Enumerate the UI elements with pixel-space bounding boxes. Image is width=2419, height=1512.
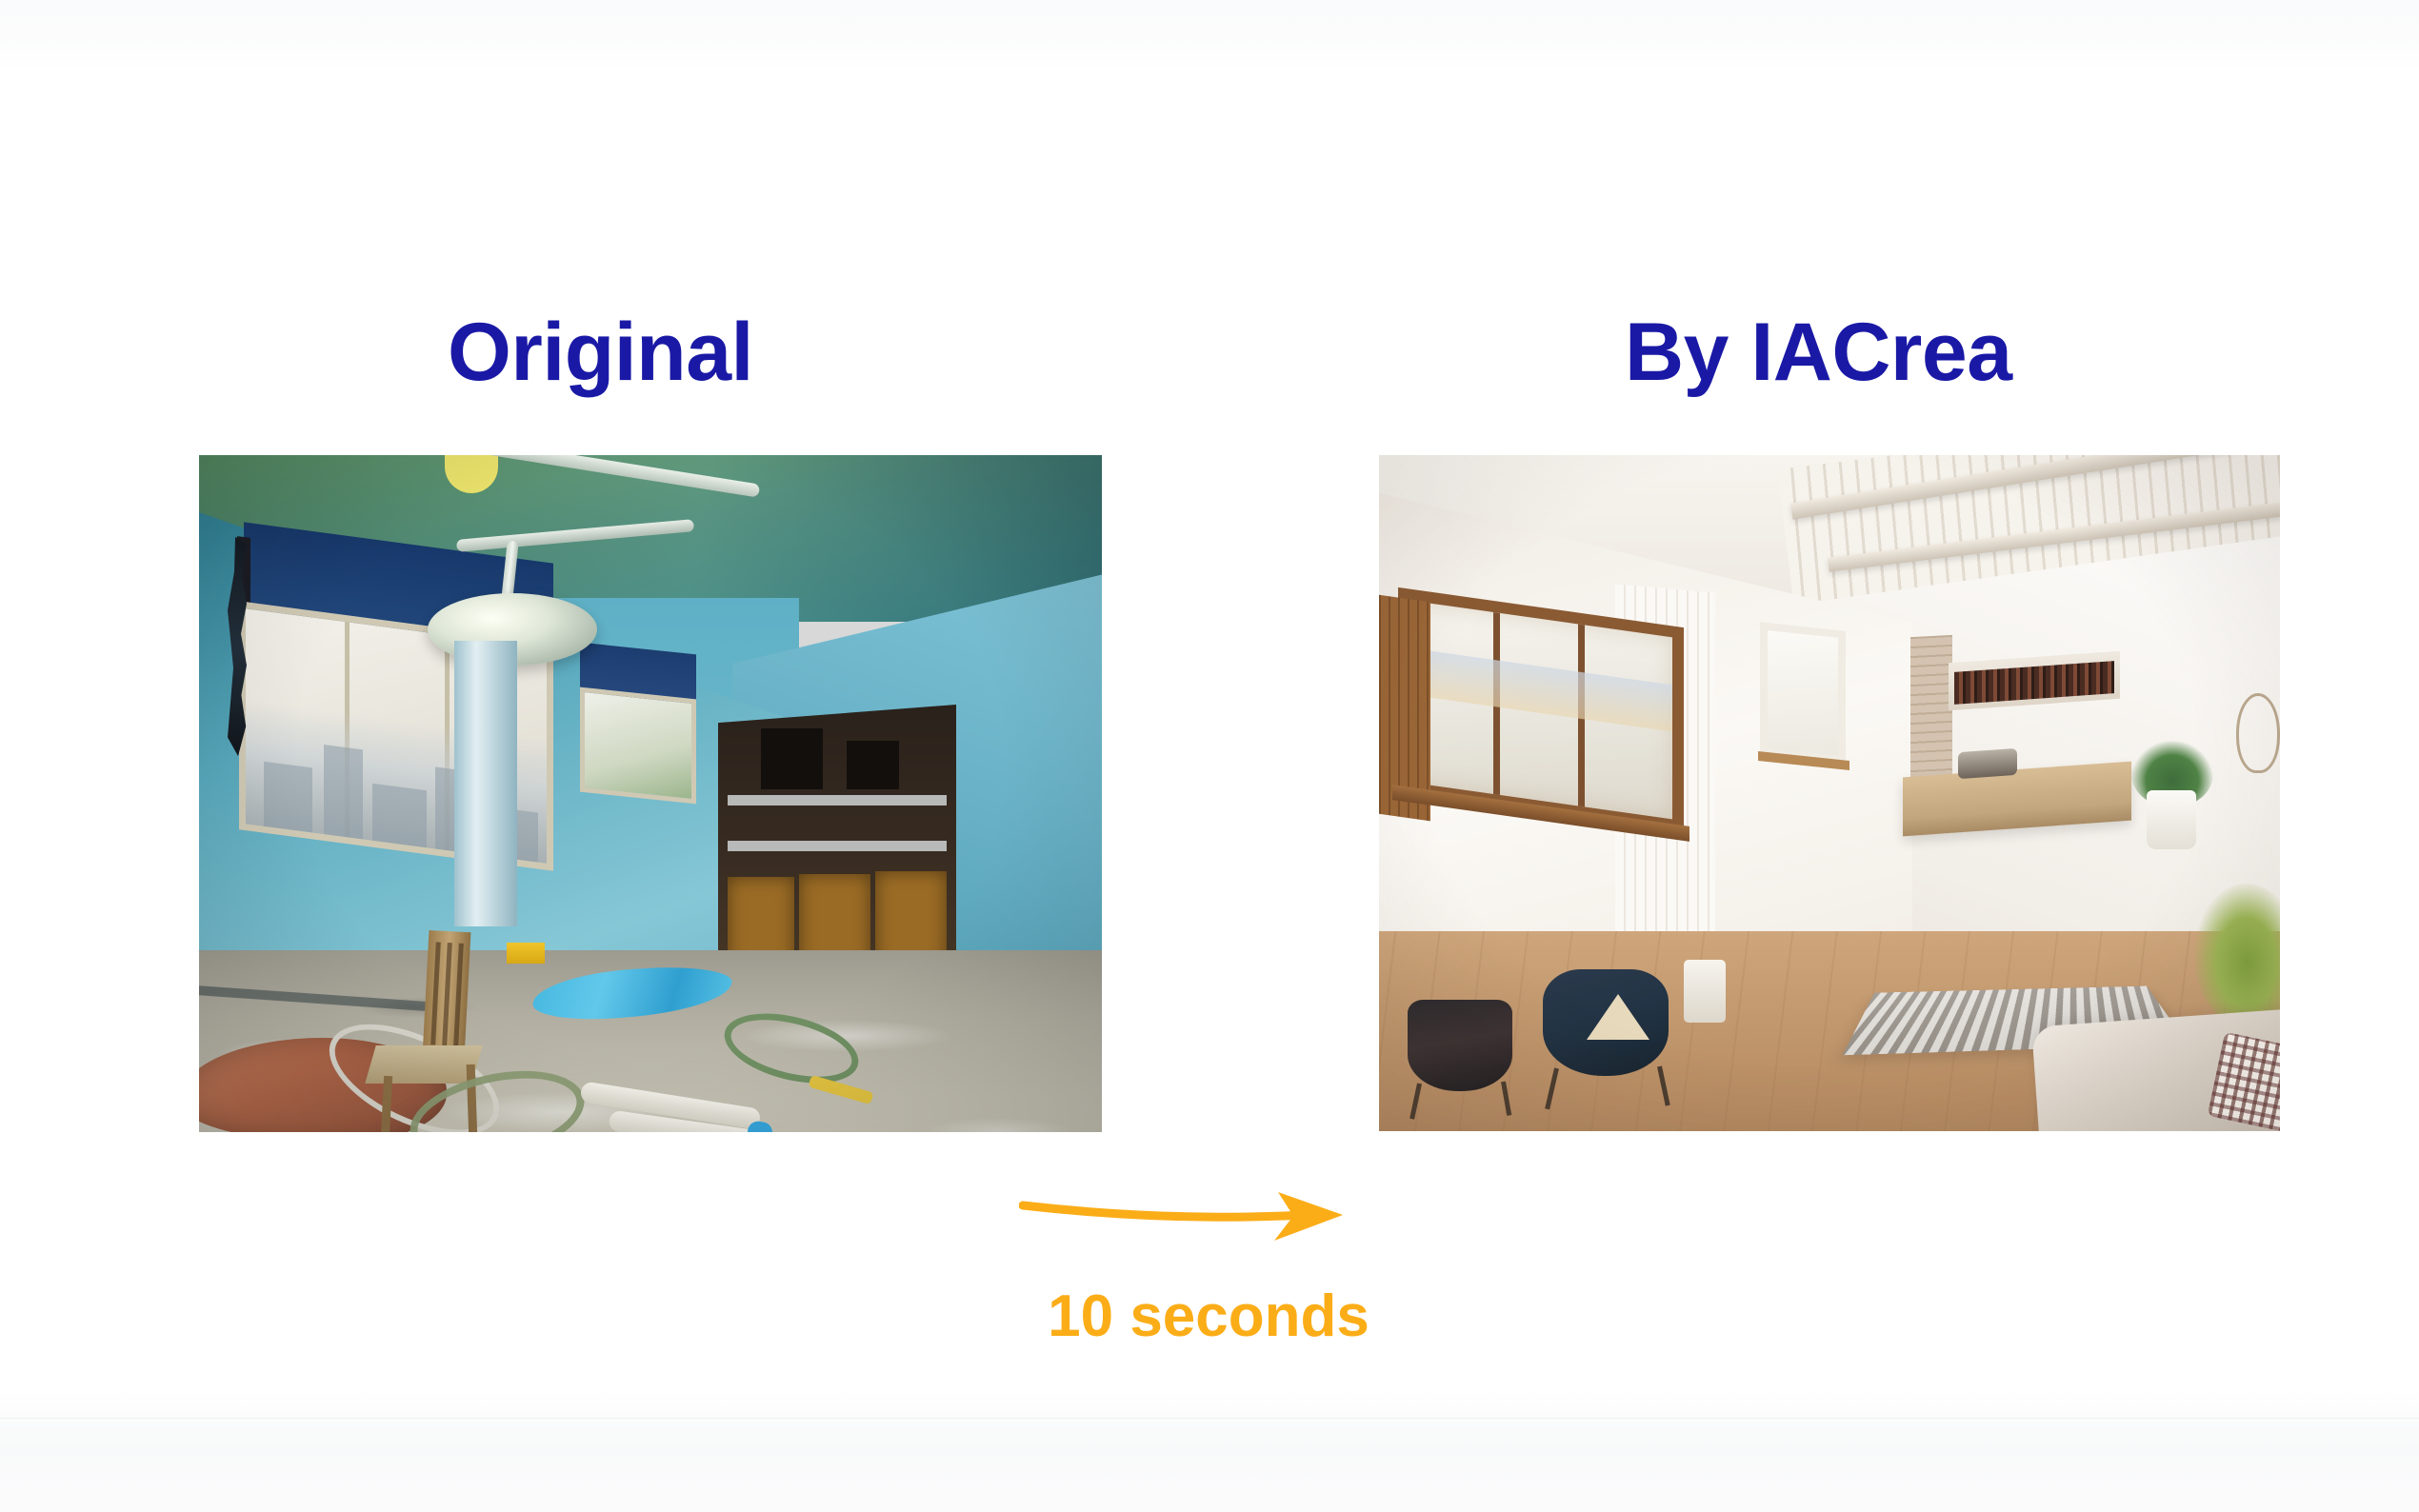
bottom-divider: [0, 1418, 2419, 1419]
after-label: By IACrea: [1625, 311, 2012, 393]
bottom-edge-gradient: [0, 1417, 2419, 1512]
after-vignette: [1379, 455, 2280, 1131]
after-photo[interactable]: [1379, 455, 2280, 1131]
before-photo[interactable]: [199, 455, 1102, 1132]
page-root: Original: [0, 0, 2419, 1512]
duration-caption: 10 seconds: [1018, 1287, 1399, 1346]
right-arrow-icon: [1019, 1188, 1390, 1255]
top-edge-gradient: [0, 0, 2419, 59]
before-label: Original: [448, 311, 753, 393]
before-vignette: [199, 455, 1102, 1132]
